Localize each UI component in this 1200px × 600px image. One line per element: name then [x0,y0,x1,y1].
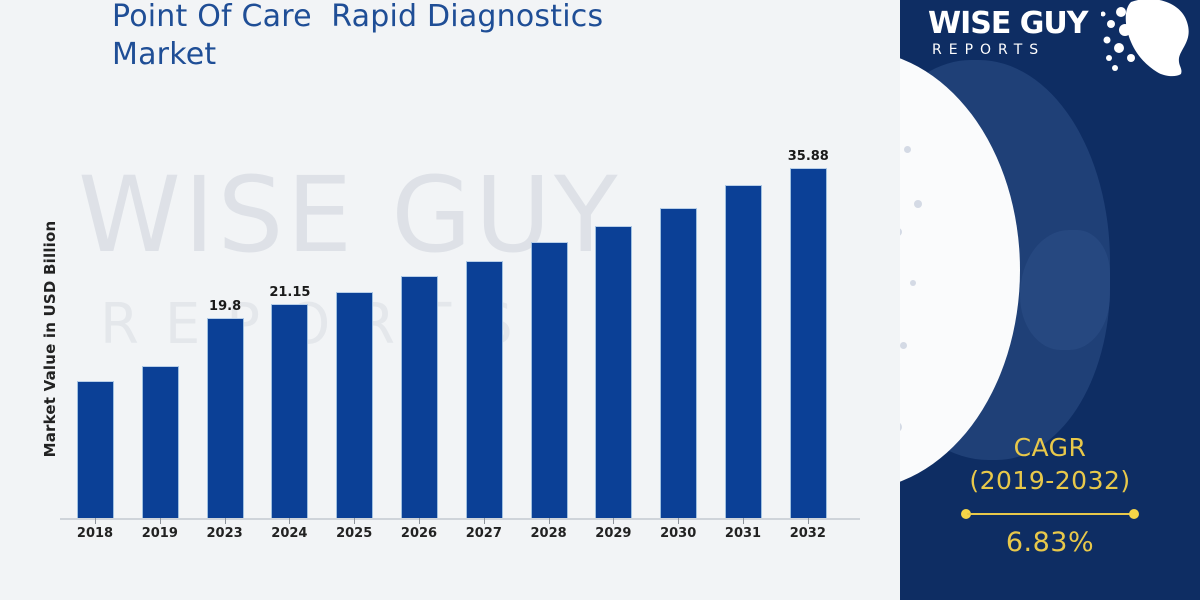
y-axis-label: Market Value in USD Billion [41,189,59,489]
x-axis-tick-label: 2023 [195,526,255,541]
x-axis-tick [484,518,485,524]
x-axis-tick [419,518,420,524]
bar-group[interactable] [77,381,114,518]
chart-bar[interactable] [725,185,762,518]
logo-subtext: REPORTS [932,42,1045,58]
x-axis-tick [808,518,809,524]
molecule-dot [900,228,902,236]
bar-group[interactable] [595,226,632,518]
bar-value-label: 19.8 [209,299,241,314]
brand-panel: WISE GUY REPORTS CAGR (2019-2032) 6.83% [900,0,1200,600]
bar-group[interactable]: 35.88 [790,168,827,518]
molecule-dot [904,146,911,153]
cagr-value: 6.83% [900,526,1200,560]
divider-dot-right [1129,509,1139,519]
x-axis-tick-label: 2019 [130,526,190,541]
x-axis-tick-label: 2024 [259,526,319,541]
logo-wordmark: WISE GUY [928,6,1088,41]
chart-bar[interactable] [336,292,373,518]
x-axis-tick-label: 2030 [648,526,708,541]
x-axis-tick [225,518,226,524]
chart-bar[interactable] [531,242,568,518]
bar-value-label: 35.88 [788,149,829,164]
chart-bar[interactable] [790,168,827,518]
x-axis-tick [678,518,679,524]
x-axis-tick [160,518,161,524]
x-axis-tick-label: 2028 [519,526,579,541]
cagr-divider [961,508,1139,520]
divider-line [967,513,1133,515]
cagr-label: CAGR [900,432,1200,464]
bar-chart: Market Value in USD Billion 19.821.1535.… [0,0,900,600]
chart-bar[interactable] [271,304,308,518]
x-axis-tick [743,518,744,524]
x-axis-tick-label: 2025 [324,526,384,541]
x-axis-tick-label: 2026 [389,526,449,541]
molecule-dot [900,422,902,432]
molecule-dot [900,342,907,349]
x-axis-line [60,518,860,520]
chart-bar[interactable] [77,381,114,518]
bar-group[interactable]: 19.8 [207,318,244,518]
x-axis-tick-label: 2027 [454,526,514,541]
infographic-canvas: Point Of Care Rapid Diagnostics Market W… [0,0,1200,600]
bar-group[interactable] [725,185,762,518]
bar-group[interactable] [466,261,503,518]
x-axis-tick [354,518,355,524]
x-axis-tick [95,518,96,524]
bar-group[interactable] [336,292,373,518]
chart-bar[interactable] [207,318,244,518]
wiseguy-logo[interactable]: WISE GUY REPORTS [918,4,1193,74]
bar-group[interactable] [531,242,568,518]
x-axis-tick [613,518,614,524]
plot-area: 19.821.1535.88 [60,120,880,518]
x-axis-tick-label: 2029 [583,526,643,541]
logo-head-icon [1101,0,1197,80]
x-axis-tick-label: 2031 [713,526,773,541]
bar-value-label: 21.15 [269,285,310,300]
x-axis-tick [549,518,550,524]
chart-bar[interactable] [401,276,438,518]
x-axis-tick-label: 2032 [778,526,838,541]
bar-group[interactable] [660,208,697,518]
x-axis-tick-label: 2018 [65,526,125,541]
bar-group[interactable]: 21.15 [271,304,308,518]
x-axis-tick [289,518,290,524]
bar-group[interactable] [142,366,179,518]
molecule-dot [910,280,916,286]
chart-bar[interactable] [660,208,697,518]
chart-bar[interactable] [466,261,503,518]
cagr-range: (2019-2032) [900,464,1200,498]
cagr-block: CAGR (2019-2032) 6.83% [900,432,1200,560]
molecule-dot [914,200,922,208]
chart-bar[interactable] [142,366,179,518]
chart-bar[interactable] [595,226,632,518]
bar-group[interactable] [401,276,438,518]
